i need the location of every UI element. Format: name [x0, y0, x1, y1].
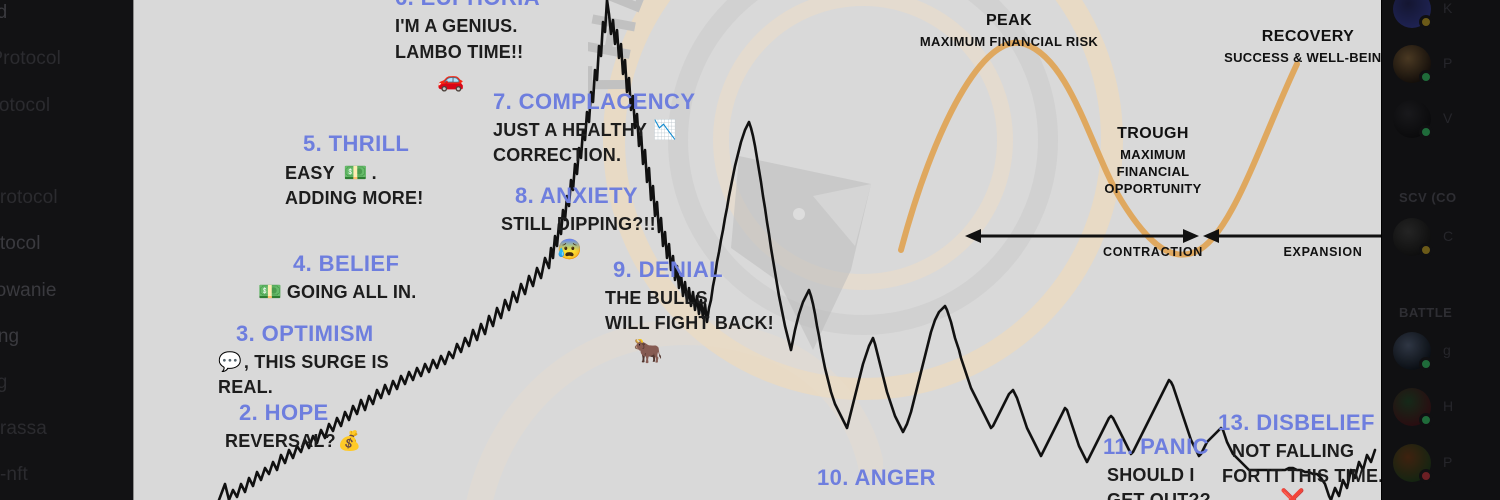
trough-title: TROUGH	[1073, 125, 1233, 143]
stage-5-heading: 5. THRILL	[303, 132, 423, 156]
member-list-item[interactable]: P	[1393, 45, 1500, 83]
stage-7-heading: 7. COMPLACENCY	[493, 90, 695, 114]
member-name: K	[1443, 0, 1452, 16]
member-list-sidebar[interactable]: SCV (COBATTLEKPVCgHP	[1381, 0, 1500, 500]
stage-label-5-thrill: 5. THRILL EASY 💵. ADDING MORE!	[285, 132, 423, 210]
stage-7-body-line-2: CORRECTION.	[493, 145, 695, 167]
peak-title: PEAK	[893, 12, 1125, 30]
member-name: V	[1443, 110, 1452, 126]
stage-11-body-line-1: SHOULD I	[1107, 465, 1211, 487]
cycle-contraction-label: CONTRACTION	[1063, 245, 1243, 259]
stage-9-body-line-1: THE BULLS	[605, 288, 774, 310]
stage-label-9-denial: 9. DENIAL THE BULLS WILL FIGHT BACK! 🐂	[605, 258, 774, 364]
member-group-header: BATTLE	[1399, 305, 1452, 320]
cycle-peak-annotation: PEAK MAXIMUM FINANCIAL RISK	[893, 12, 1125, 51]
presence-status-dot	[1419, 15, 1433, 29]
sidebar-channel-item[interactable]: hor Protocol	[0, 187, 58, 209]
member-group-header: SCV (CO	[1399, 190, 1457, 205]
wow-speech-bubble-emoji: 💬	[218, 352, 242, 373]
image-viewer[interactable]: THE ƁIRB NEST 6. EUPHORIA I'M	[133, 0, 1381, 500]
stage-11-body-line-2: GET OUT??	[1107, 490, 1211, 500]
stage-label-2-hope: 2. HOPE REVERSAL?💰	[225, 401, 362, 453]
stage-label-8-anxiety: 8. ANXIETY STILL DIPPING?!! 😰	[501, 184, 656, 260]
stage-10-heading: 10. ANGER	[817, 466, 936, 490]
presence-status-dot	[1419, 243, 1433, 257]
stage-6-body-line-1: I'M A GENIUS.	[395, 16, 540, 38]
stage-7-body-text: JUST A HEALTHY	[493, 120, 647, 140]
sidebar-channel-item[interactable]: aLand	[0, 2, 7, 24]
member-list-item[interactable]: H	[1393, 388, 1500, 426]
stage-3-body-line-2: REAL.	[218, 377, 389, 399]
member-name: P	[1443, 454, 1452, 470]
channel-sidebar[interactable]: aLandyrie Protocolus ProtocolTerrahor Pr…	[0, 0, 133, 500]
stage-label-6-euphoria: 6. EUPHORIA I'M A GENIUS. LAMBO TIME!! 🚗	[395, 0, 540, 91]
cycle-trough-annotation: TROUGH MAXIMUM FINANCIAL OPPORTUNITY	[1073, 125, 1233, 198]
stage-13-body-line-2: FOR IT THIS TIME.	[1222, 466, 1381, 488]
sidebar-channel-item[interactable]: us Protocol	[0, 95, 50, 117]
stage-label-10-anger: 10. ANGER	[817, 466, 936, 490]
member-name: g	[1443, 342, 1451, 358]
stage-5-body-text: EASY	[285, 163, 335, 183]
cycle-expansion-label: EXPANSION	[1233, 245, 1381, 259]
trough-subtitle-line-1: MAXIMUM	[1073, 147, 1233, 164]
stage-6-body-line-2: LAMBO TIME!!	[395, 42, 540, 64]
stage-label-11-panic: 11. PANIC SHOULD I GET OUT??	[1095, 435, 1211, 500]
peak-subtitle: MAXIMUM FINANCIAL RISK	[893, 34, 1125, 51]
stage-5-body-line-1: EASY 💵.	[285, 163, 423, 185]
sidebar-channel-item[interactable]: yrie Protocol	[0, 48, 61, 70]
stage-9-heading: 9. DENIAL	[613, 258, 774, 282]
stage-4-body-text: GOING ALL IN.	[287, 282, 417, 302]
sidebar-channel-item[interactable]: v yegrassa	[0, 418, 47, 440]
member-name: H	[1443, 398, 1453, 414]
sports-car-emoji: 🚗	[437, 69, 540, 91]
member-name: C	[1443, 228, 1453, 244]
image-left-border	[133, 0, 134, 500]
stage-2-body-line-1: REVERSAL?💰	[225, 431, 362, 453]
cycle-recovery-annotation: RECOVERY SUCCESS & WELL-BEING	[1188, 28, 1381, 67]
member-list-item[interactable]: K	[1393, 0, 1500, 28]
sidebar-channel-item[interactable]: -trading	[0, 326, 19, 348]
money-bag-emoji: 💰	[338, 431, 362, 452]
stage-2-heading: 2. HOPE	[239, 401, 362, 425]
member-list-item[interactable]: P	[1393, 444, 1500, 482]
stage-label-4-belief: 4. BELIEF 💵GOING ALL IN.	[258, 252, 416, 304]
stage-label-13-disbelief: 13. DISBELIEF NOT FALLING FOR IT THIS TI…	[1218, 411, 1381, 500]
presence-status-dot	[1419, 357, 1433, 371]
money-emoji: 💵	[258, 282, 282, 303]
stage-8-body-line-1: STILL DIPPING?!!	[501, 214, 656, 236]
bull-emoji: 🐂	[633, 340, 774, 364]
expansion-arrow-label: EXPANSION	[1233, 245, 1381, 259]
sidebar-channel-item[interactable]: rading	[0, 372, 7, 394]
presence-status-dot	[1419, 125, 1433, 139]
trough-subtitle-line-3: OPPORTUNITY	[1073, 181, 1233, 198]
stage-5-body-line-2: ADDING MORE!	[285, 188, 423, 210]
recovery-subtitle: SUCCESS & WELL-BEING	[1188, 50, 1381, 67]
contraction-arrow-label: CONTRACTION	[1063, 245, 1243, 259]
image-right-border	[1381, 0, 1382, 500]
member-list-item[interactable]: g	[1393, 332, 1500, 370]
stage-13-body-line-1: NOT FALLING	[1232, 441, 1381, 463]
stage-7-body-line-1: JUST A HEALTHY📉	[493, 120, 695, 142]
presence-status-dot	[1419, 413, 1433, 427]
stage-6-heading: 6. EUPHORIA	[395, 0, 540, 10]
stage-2-body-text: REVERSAL?	[225, 431, 336, 451]
sidebar-channel-item[interactable]: -terra-nft	[0, 464, 28, 486]
stage-9-body-line-2: WILL FIGHT BACK!	[605, 313, 774, 335]
member-list-item[interactable]: V	[1393, 100, 1500, 138]
stage-3-body-text: , THIS SURGE IS	[244, 352, 389, 372]
recovery-title: RECOVERY	[1188, 28, 1381, 46]
discord-window: aLandyrie Protocolus ProtocolTerrahor Pr…	[0, 0, 1500, 500]
cross-mark-emoji: ❌	[1280, 490, 1381, 500]
stage-3-heading: 3. OPTIMISM	[236, 322, 389, 346]
stage-11-heading: 11. PANIC	[1103, 435, 1211, 459]
presence-status-dot	[1419, 70, 1433, 84]
presence-status-dot	[1419, 469, 1433, 483]
stage-label-3-optimism: 3. OPTIMISM 💬, THIS SURGE IS REAL.	[218, 322, 389, 399]
trough-subtitle-line-2: FINANCIAL	[1073, 164, 1233, 181]
cash-notes-emoji: 💵	[344, 163, 368, 184]
chart-down-emoji: 📉	[653, 120, 677, 141]
stage-4-heading: 4. BELIEF	[293, 252, 416, 276]
stage-13-heading: 13. DISBELIEF	[1218, 411, 1381, 435]
member-name: P	[1443, 55, 1452, 71]
sidebar-channel-item[interactable]: n Protocol	[0, 233, 41, 255]
stage-label-7-complacency: 7. COMPLACENCY JUST A HEALTHY📉 CORRECTIO…	[493, 90, 695, 167]
sidebar-channel-item[interactable]: -stakowanie	[0, 280, 56, 302]
stage-8-heading: 8. ANXIETY	[515, 184, 656, 208]
stage-3-body-line-1: 💬, THIS SURGE IS	[218, 352, 389, 374]
member-list-item[interactable]: C	[1393, 218, 1500, 256]
stage-4-body-line-1: 💵GOING ALL IN.	[258, 282, 416, 304]
